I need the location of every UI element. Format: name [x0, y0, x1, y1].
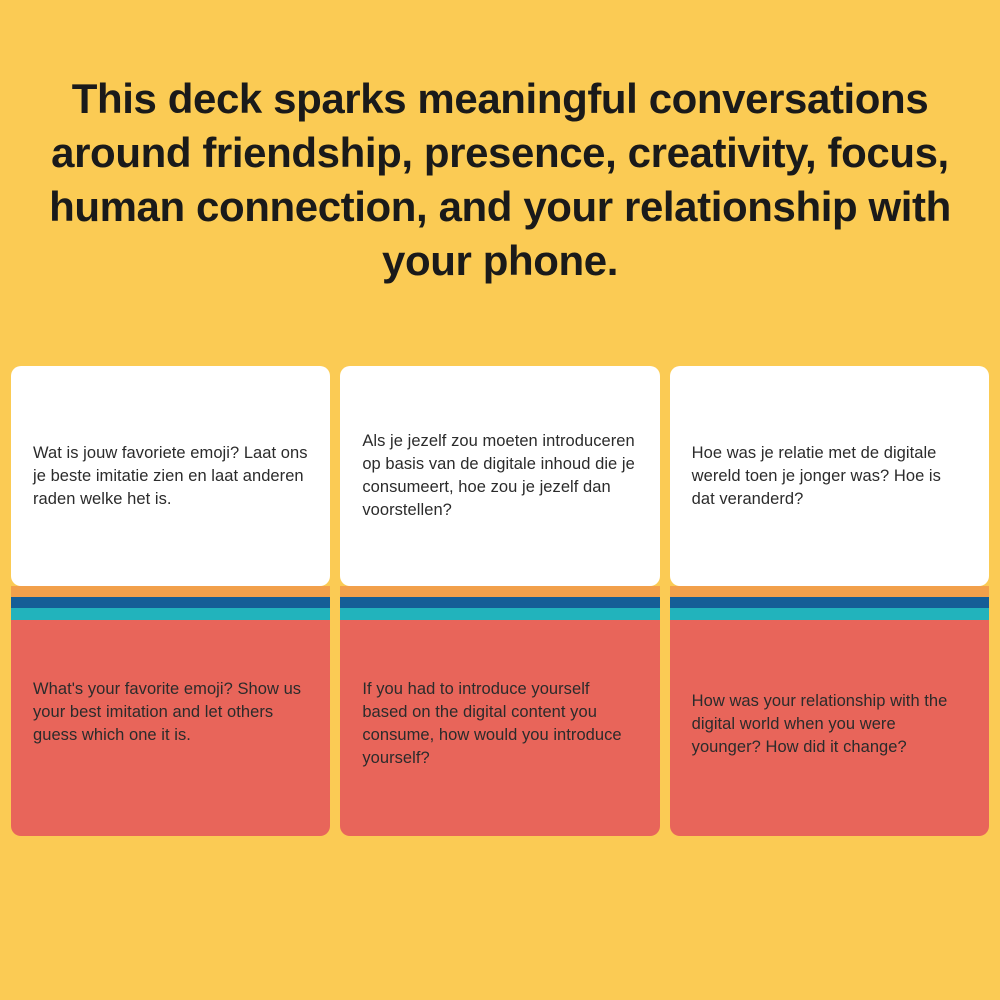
card-pair-3: Hoe was je relatie met de digitale werel…	[670, 366, 989, 836]
card-question-dutch: Hoe was je relatie met de digitale werel…	[692, 442, 967, 511]
card-stripe-divider-2	[340, 586, 659, 620]
card-back-english-1[interactable]: What's your favorite emoji? Show us your…	[11, 620, 330, 836]
stripe-orange	[670, 586, 989, 597]
stripe-orange	[11, 586, 330, 597]
card-front-dutch-3[interactable]: Hoe was je relatie met de digitale werel…	[670, 366, 989, 586]
card-question-english: What's your favorite emoji? Show us your…	[33, 678, 308, 747]
stripe-teal	[340, 608, 659, 620]
stripe-teal	[11, 608, 330, 620]
card-question-dutch: Wat is jouw favoriete emoji? Laat ons je…	[33, 442, 308, 511]
card-front-dutch-2[interactable]: Als je jezelf zou moeten introduceren op…	[340, 366, 659, 586]
card-question-english: If you had to introduce yourself based o…	[362, 678, 637, 770]
card-back-english-3[interactable]: How was your relationship with the digit…	[670, 620, 989, 836]
card-front-dutch-1[interactable]: Wat is jouw favoriete emoji? Laat ons je…	[11, 366, 330, 586]
page-headline: This deck sparks meaningful conversation…	[20, 72, 980, 288]
promo-page: { "page": { "background_color": "#FBCB54…	[0, 0, 1000, 1000]
stripe-blue	[11, 597, 330, 608]
card-back-english-2[interactable]: If you had to introduce yourself based o…	[340, 620, 659, 836]
stripe-blue	[340, 597, 659, 608]
card-pair-1: Wat is jouw favoriete emoji? Laat ons je…	[11, 366, 330, 836]
stripe-orange	[340, 586, 659, 597]
stripe-blue	[670, 597, 989, 608]
stripe-teal	[670, 608, 989, 620]
card-grid: Wat is jouw favoriete emoji? Laat ons je…	[11, 366, 989, 836]
card-stripe-divider-1	[11, 586, 330, 620]
card-pair-2: Als je jezelf zou moeten introduceren op…	[340, 366, 659, 836]
card-question-dutch: Als je jezelf zou moeten introduceren op…	[362, 430, 637, 522]
card-stripe-divider-3	[670, 586, 989, 620]
card-question-english: How was your relationship with the digit…	[692, 690, 967, 759]
